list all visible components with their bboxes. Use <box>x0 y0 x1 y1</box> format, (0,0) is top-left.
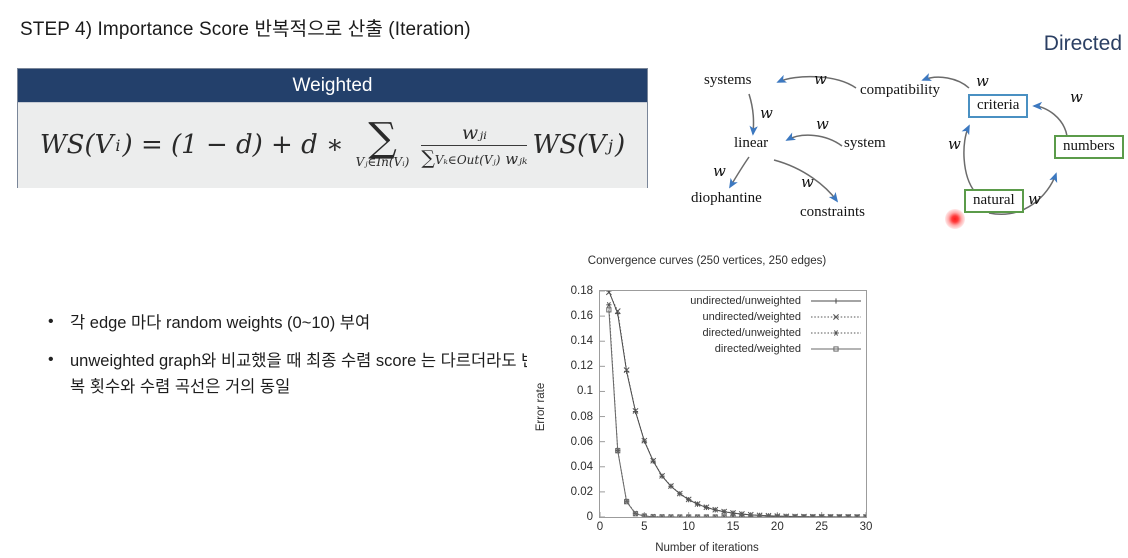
equation-lhs-close: ) = (1 − d) + d ∗ <box>123 130 344 160</box>
summation-subscript: Vⱼ∈In(Vᵢ) <box>356 155 410 169</box>
graph-node-compatibility: compatibility <box>860 82 940 99</box>
bullet-text: unweighted graph와 비교했을 때 최종 수렴 score 는 다… <box>70 348 538 401</box>
chart-legend-item: undirected/unweighted <box>645 293 863 309</box>
chart-y-tick-label: 0.06 <box>571 436 593 448</box>
edge-systems-to-linear <box>749 94 754 134</box>
sigma-icon: ∑ <box>368 122 397 155</box>
chart-y-tick-label: 0 <box>587 511 593 523</box>
chart-legend-key <box>809 294 863 308</box>
graph-node-system: system <box>844 135 886 152</box>
equation-rhs-close: ) <box>615 130 625 160</box>
chart-y-tick-label: 0.04 <box>571 461 593 473</box>
chart-legend-label: directed/weighted <box>715 343 801 355</box>
edge-weight-label-linear-constraints: w <box>801 173 814 191</box>
chart-legend-key <box>809 310 863 324</box>
chart-y-tick-label: 0.12 <box>571 360 593 372</box>
chart-x-tick-label: 20 <box>771 521 784 533</box>
graph-node-natural: natural <box>964 189 1024 213</box>
denominator-weight: wⱼₖ <box>505 150 527 168</box>
edge-system-to-linear <box>787 135 842 146</box>
formula-card-header: Weighted <box>18 69 647 102</box>
chart-x-tick-label: 0 <box>597 521 603 533</box>
edge-weight-label-compatibility-criteria: w <box>976 72 989 90</box>
list-item: • unweighted graph와 비교했을 때 최종 수렴 score 는… <box>48 348 538 401</box>
weight-fraction: wⱼᵢ ∑Vₖ∈Out(Vⱼ) wⱼₖ <box>421 122 527 170</box>
chart-y-tick-label: 0.16 <box>571 310 593 322</box>
edge-weight-label-linear-diophantine: w <box>713 162 726 180</box>
chart-legend-key <box>809 326 863 340</box>
edge-weight-label-system-linear: w <box>816 115 829 133</box>
chart-x-tick-label: 10 <box>682 521 695 533</box>
graph-node-linear: linear <box>734 135 768 152</box>
chart-legend-key <box>809 342 863 356</box>
graph-node-systems: systems <box>704 72 752 89</box>
summation-operator: ∑ Vⱼ∈In(Vᵢ) <box>356 122 410 170</box>
chart-y-tick-label: 0.02 <box>571 486 593 498</box>
equation-lhs-subscript: i <box>115 136 120 155</box>
chart-legend: undirected/unweightedundirected/weighted… <box>645 293 863 357</box>
chart-y-axis-label: Error rate <box>535 367 547 447</box>
edge-weight-label-natural-criteria: w <box>948 135 961 153</box>
formula-card-body: WS(Vi) = (1 − d) + d ∗ ∑ Vⱼ∈In(Vᵢ) wⱼᵢ ∑… <box>18 102 647 188</box>
textrank-graph-diagram: Directed <box>676 30 1128 252</box>
bullet-text: 각 edge 마다 random weights (0~10) 부여 <box>70 310 370 337</box>
graph-node-constraints: constraints <box>800 204 865 221</box>
chart-legend-label: directed/unweighted <box>703 327 801 339</box>
edge-weight-label-compatibility-systems: w <box>814 70 827 88</box>
edge-weight-label-natural-numbers: w <box>1028 190 1041 208</box>
slide-canvas: STEP 4) Importance Score 반복적으로 산출 (Itera… <box>0 0 1128 558</box>
chart-x-tick-label: 30 <box>860 521 873 533</box>
bullet-marker-icon: • <box>48 310 70 335</box>
chart-legend-item: undirected/weighted <box>645 309 863 325</box>
equation-rhs: WS(V <box>532 130 605 160</box>
edge-natural-to-criteria <box>964 126 975 192</box>
weighted-formula-card: Weighted WS(Vi) = (1 − d) + d ∗ ∑ Vⱼ∈In(… <box>17 68 648 188</box>
fraction-numerator: wⱼᵢ <box>462 122 487 145</box>
fraction-denominator: ∑Vₖ∈Out(Vⱼ) wⱼₖ <box>421 146 527 169</box>
chart-y-tick-label: 0.1 <box>577 385 593 397</box>
graph-node-diophantine: diophantine <box>691 190 762 207</box>
chart-y-tick-label: 0.18 <box>571 285 593 297</box>
equation-rhs-subscript: j <box>608 136 613 155</box>
edge-weight-label-systems-linear: w <box>760 104 773 122</box>
list-item: • 각 edge 마다 random weights (0~10) 부여 <box>48 310 538 337</box>
edge-linear-to-diophantine <box>730 157 749 187</box>
chart-x-tick-label: 15 <box>727 521 740 533</box>
chart-x-axis-label: Number of iterations <box>527 542 887 554</box>
chart-title: Convergence curves (250 vertices, 250 ed… <box>527 255 887 267</box>
convergence-chart: Convergence curves (250 vertices, 250 ed… <box>527 255 887 555</box>
formula-card-header-label: Weighted <box>293 75 373 97</box>
graph-node-criteria: criteria <box>968 94 1028 118</box>
bullet-list: • 각 edge 마다 random weights (0~10) 부여 • u… <box>48 310 538 412</box>
edge-weight-label-numbers-criteria: w <box>1070 88 1083 106</box>
weighted-score-equation: WS(Vi) = (1 − d) + d ∗ ∑ Vⱼ∈In(Vᵢ) wⱼᵢ ∑… <box>40 122 625 170</box>
equation-lhs: WS(V <box>40 130 113 160</box>
chart-legend-item: directed/weighted <box>645 341 863 357</box>
edge-numbers-to-criteria <box>1034 106 1067 136</box>
graph-node-numbers: numbers <box>1054 135 1124 159</box>
chart-y-tick-label: 0.14 <box>571 335 593 347</box>
chart-y-tick-label: 0.08 <box>571 411 593 423</box>
chart-legend-label: undirected/unweighted <box>690 295 801 307</box>
chart-x-tick-label: 5 <box>641 521 647 533</box>
chart-legend-label: undirected/weighted <box>703 311 801 323</box>
page-title: STEP 4) Importance Score 반복적으로 산출 (Itera… <box>20 14 471 41</box>
chart-legend-item: directed/unweighted <box>645 325 863 341</box>
chart-x-tick-label: 25 <box>815 521 828 533</box>
denominator-sigma-icon: ∑ <box>421 147 435 169</box>
laser-pointer-dot <box>945 209 965 229</box>
denominator-subscript: Vₖ∈Out(Vⱼ) <box>435 153 501 167</box>
bullet-marker-icon: • <box>48 348 70 373</box>
